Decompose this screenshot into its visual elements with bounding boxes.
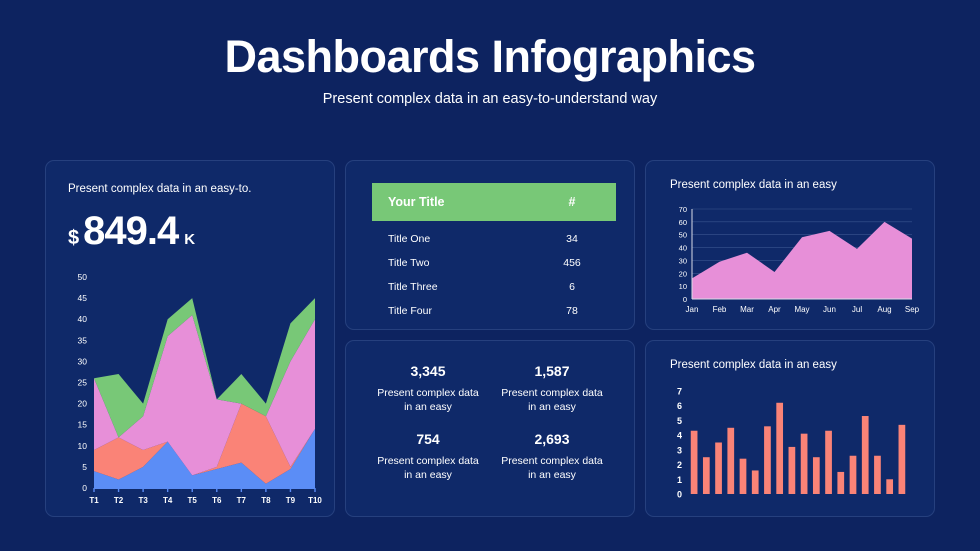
table-header-number: # [544, 195, 600, 209]
kpi-value-row: $ 849.4 K [68, 209, 334, 254]
svg-text:40: 40 [78, 314, 88, 324]
svg-text:50: 50 [679, 231, 687, 240]
bar [850, 456, 857, 494]
bar [715, 443, 722, 495]
svg-text:60: 60 [679, 218, 687, 227]
svg-text:Jul: Jul [852, 305, 862, 314]
table-cell-value: 6 [544, 281, 600, 293]
svg-text:25: 25 [78, 378, 88, 388]
bar [789, 447, 796, 494]
svg-text:T8: T8 [261, 496, 271, 505]
stat-item: 1,587Present complex data in an easy [497, 363, 607, 414]
svg-text:T3: T3 [138, 496, 148, 505]
svg-text:T9: T9 [286, 496, 296, 505]
stat-value: 754 [373, 431, 483, 447]
svg-text:6: 6 [677, 401, 682, 411]
table-cell-label: Title Two [388, 257, 544, 269]
table-body: Title One34Title Two456Title Three6Title… [346, 227, 634, 323]
card-bar-chart: Present complex data in an easy 01234567 [645, 340, 935, 517]
card-stats-quad: 3,345Present complex data in an easy1,58… [345, 340, 635, 517]
stacked-area-chart: 05101520253035404550T1T2T3T4T5T6T7T8T9T1… [60, 269, 325, 514]
stat-item: 2,693Present complex data in an easy [497, 431, 607, 482]
bar [703, 457, 710, 494]
kpi-header: Present complex data in an easy-to. $ 84… [46, 161, 334, 254]
bar [776, 403, 783, 494]
svg-text:T6: T6 [212, 496, 222, 505]
table-cell-value: 456 [544, 257, 600, 269]
stat-description: Present complex data in an easy [497, 454, 607, 482]
kpi-unit: K [184, 231, 195, 248]
stats-grid: 3,345Present complex data in an easy1,58… [346, 341, 634, 516]
table-row[interactable]: Title One34 [372, 227, 616, 251]
svg-text:T7: T7 [237, 496, 247, 505]
svg-text:0: 0 [82, 483, 87, 493]
svg-text:5: 5 [82, 462, 87, 472]
bar [727, 428, 734, 494]
svg-text:1: 1 [677, 475, 682, 485]
bar [752, 470, 759, 494]
svg-text:T5: T5 [188, 496, 198, 505]
kpi-currency-symbol: $ [68, 227, 79, 250]
svg-text:4: 4 [677, 431, 682, 441]
bar-chart: 01234567 [662, 383, 920, 508]
stat-value: 2,693 [497, 431, 607, 447]
area-card-title: Present complex data in an easy [670, 179, 837, 191]
svg-text:30: 30 [679, 256, 687, 265]
bar [837, 472, 844, 494]
table-cell-label: Title Three [388, 281, 544, 293]
dashboard-grid: Present complex data in an easy-to. $ 84… [45, 160, 935, 517]
svg-text:5: 5 [677, 416, 682, 426]
page-subtitle: Present complex data in an easy-to-under… [0, 91, 980, 107]
bar [862, 416, 869, 494]
svg-text:Sep: Sep [905, 305, 920, 314]
table-cell-label: Title Four [388, 305, 544, 317]
stat-description: Present complex data in an easy [497, 386, 607, 414]
svg-text:7: 7 [677, 387, 682, 397]
svg-text:10: 10 [78, 441, 88, 451]
table-row[interactable]: Title Two456 [372, 251, 616, 275]
table-header-row: Your Title # [372, 183, 616, 221]
svg-text:T2: T2 [114, 496, 124, 505]
kpi-card-title: Present complex data in an easy-to. [68, 183, 334, 195]
card-table: Your Title # Title One34Title Two456Titl… [345, 160, 635, 330]
svg-text:Jan: Jan [686, 305, 699, 314]
monthly-area-fill [692, 222, 912, 299]
svg-text:50: 50 [78, 272, 88, 282]
bar [825, 431, 832, 494]
svg-text:May: May [794, 305, 809, 314]
svg-text:T1: T1 [89, 496, 99, 505]
table-cell-value: 78 [544, 305, 600, 317]
svg-text:Aug: Aug [877, 305, 891, 314]
table-row[interactable]: Title Four78 [372, 299, 616, 323]
table-row[interactable]: Title Three6 [372, 275, 616, 299]
stat-value: 3,345 [373, 363, 483, 379]
card-monthly-area: Present complex data in an easy 01020304… [645, 160, 935, 330]
svg-text:0: 0 [677, 490, 682, 500]
bar [740, 459, 747, 494]
bar-card-title: Present complex data in an easy [670, 359, 837, 371]
svg-text:20: 20 [78, 399, 88, 409]
svg-text:Mar: Mar [740, 305, 754, 314]
svg-text:Apr: Apr [768, 305, 781, 314]
bar [874, 456, 881, 494]
svg-text:70: 70 [679, 205, 687, 214]
table-cell-label: Title One [388, 233, 544, 245]
bar [886, 479, 893, 494]
card-kpi-stacked-area: Present complex data in an easy-to. $ 84… [45, 160, 335, 517]
svg-text:3: 3 [677, 445, 682, 455]
svg-text:30: 30 [78, 356, 88, 366]
stat-description: Present complex data in an easy [373, 386, 483, 414]
stat-value: 1,587 [497, 363, 607, 379]
page-title: Dashboards Infographics [0, 33, 980, 80]
svg-text:20: 20 [679, 269, 687, 278]
bar [801, 434, 808, 494]
bar [764, 426, 771, 494]
stat-description: Present complex data in an easy [373, 454, 483, 482]
kpi-value: 849.4 [83, 209, 178, 254]
bar [899, 425, 906, 494]
svg-text:0: 0 [683, 295, 687, 304]
svg-text:T10: T10 [308, 496, 322, 505]
svg-text:45: 45 [78, 293, 88, 303]
table-cell-value: 34 [544, 233, 600, 245]
svg-text:2: 2 [677, 460, 682, 470]
stat-item: 754Present complex data in an easy [373, 431, 483, 482]
svg-text:40: 40 [679, 244, 687, 253]
bar [691, 431, 698, 494]
svg-text:35: 35 [78, 335, 88, 345]
monthly-area-chart: 010203040506070JanFebMarAprMayJunJulAugS… [662, 203, 920, 321]
svg-text:Feb: Feb [713, 305, 727, 314]
bar [813, 457, 820, 494]
stat-item: 3,345Present complex data in an easy [373, 363, 483, 414]
page-header: Dashboards Infographics Present complex … [0, 0, 980, 107]
svg-text:10: 10 [679, 282, 687, 291]
svg-text:15: 15 [78, 420, 88, 430]
svg-text:Jun: Jun [823, 305, 836, 314]
table-header-label: Your Title [388, 195, 544, 209]
svg-text:T4: T4 [163, 496, 173, 505]
